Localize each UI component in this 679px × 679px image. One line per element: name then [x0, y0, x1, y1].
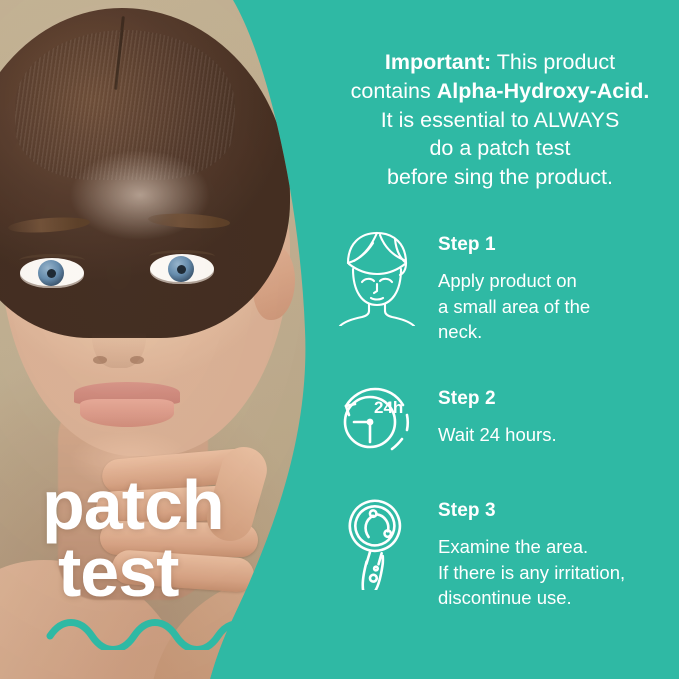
step-1: Step 1 Apply product on a small area of …: [336, 228, 676, 345]
notice-line-4: do a patch test: [429, 136, 570, 160]
notice-line-5: before sing the product.: [387, 165, 613, 189]
notice-important-label: Important:: [385, 50, 491, 74]
step-3: Step 3 Examine the area. If there is any…: [336, 494, 676, 611]
step-2-description: Wait 24 hours.: [438, 422, 676, 448]
magnifying-glass-skin-icon: [336, 496, 416, 590]
step-2-title: Step 2: [438, 388, 676, 410]
step-3-body: Step 3 Examine the area. If there is any…: [422, 494, 676, 611]
notice-ingredient: Alpha-Hydroxy-Acid.: [437, 79, 650, 103]
notice-line-2-pre: contains: [351, 79, 437, 103]
clock-icon-label: 24h: [374, 398, 403, 417]
step-1-body: Step 1 Apply product on a small area of …: [422, 228, 676, 345]
step-1-icon-wrap: [336, 228, 422, 331]
notice-line-3: It is essential to ALWAYS: [381, 108, 620, 132]
lower-lip: [80, 399, 174, 427]
eyelash-right: [149, 250, 215, 263]
wavy-underline-icon: [46, 616, 246, 650]
step-3-title: Step 3: [438, 500, 676, 522]
step-2-icon-wrap: 24h: [336, 382, 422, 461]
content-panel: Important: This product contains Alpha-H…: [318, 0, 679, 679]
page-title: patchtest: [42, 472, 224, 606]
step-1-description: Apply product on a small area of the nec…: [438, 268, 676, 345]
lips: [74, 382, 180, 428]
step-2-body: Step 2 Wait 24 hours.: [422, 382, 676, 448]
step-3-description: Examine the area. If there is any irrita…: [438, 534, 676, 611]
face-with-hair-towel-icon: [336, 230, 418, 326]
patch-test-infographic: patchtest Important: This product contai…: [0, 0, 679, 679]
nostril-right: [130, 356, 144, 364]
nostril-left: [93, 356, 107, 364]
important-notice: Important: This product contains Alpha-H…: [326, 48, 674, 192]
eyelash-left: [19, 254, 85, 267]
wordmark-line-2: test: [58, 539, 224, 606]
step-2: 24h Step 2 Wait 24 hours.: [336, 382, 676, 461]
clock-24h-icon: 24h: [336, 384, 414, 456]
step-3-icon-wrap: [336, 494, 422, 595]
notice-line-1: This product: [491, 50, 615, 74]
step-1-title: Step 1: [438, 234, 676, 256]
